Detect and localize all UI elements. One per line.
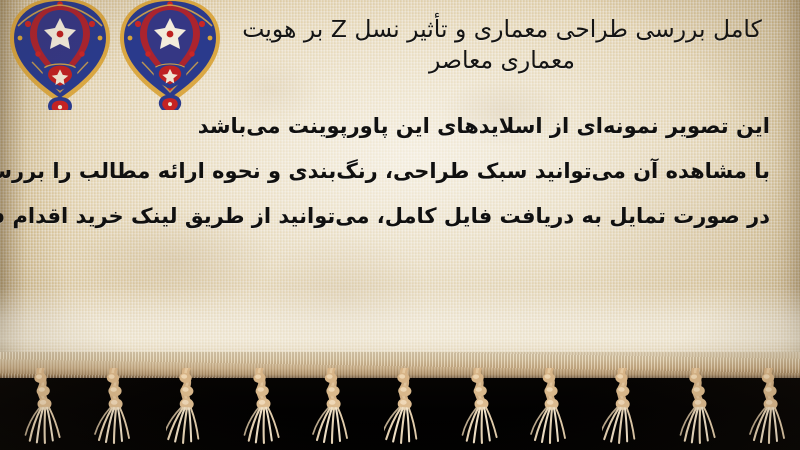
fringe-tassel <box>748 368 794 446</box>
fringe-tassel <box>20 368 66 446</box>
slide-title-line-2: معماری معاصر <box>228 45 776 76</box>
fringe-tassel <box>457 368 503 446</box>
fringe-tassel <box>602 368 648 446</box>
body-line-2: با مشاهده آن می‌توانید سبک طراحی، رنگ‌بن… <box>24 149 770 194</box>
fringe-tassel <box>93 368 139 446</box>
persian-medallion-icon-secondary <box>118 0 222 110</box>
fringe-tassel <box>529 368 575 446</box>
slide-title-line-1: کامل بررسی طراحی معماری و تأثیر نسل Z بر… <box>228 14 776 45</box>
presentation-slide: کامل بررسی طراحی معماری و تأثیر نسل Z بر… <box>0 0 800 450</box>
body-line-1: این تصویر نمونه‌ای از اسلایدهای این پاور… <box>24 104 770 149</box>
persian-medallion-icon <box>8 0 112 110</box>
body-line-3: در صورت تمایل به دریافت فایل کامل، می‌تو… <box>24 194 770 239</box>
slide-body-text: این تصویر نمونه‌ای از اسلایدهای این پاور… <box>24 104 770 239</box>
fringe-tassel <box>311 368 357 446</box>
slide-title: کامل بررسی طراحی معماری و تأثیر نسل Z بر… <box>228 14 776 76</box>
fringe-tassel <box>239 368 285 446</box>
fringe-tassel <box>384 368 430 446</box>
fringe-tassel <box>166 368 212 446</box>
fringe-tassel <box>675 368 721 446</box>
carpet-fringe-border <box>0 352 800 450</box>
